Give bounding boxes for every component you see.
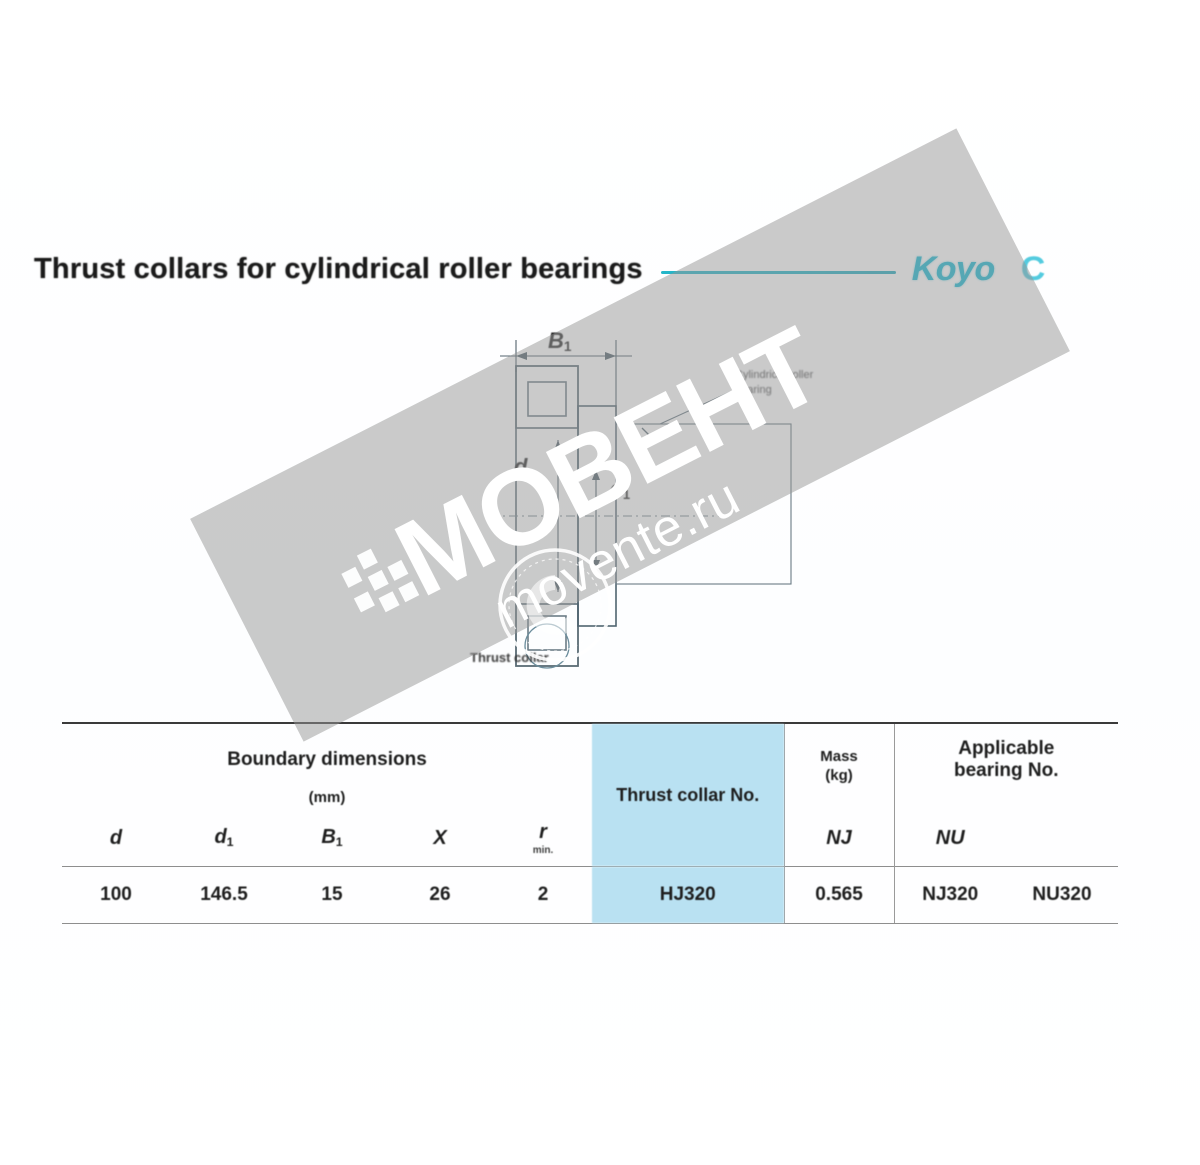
- cell-mass: 0.565: [784, 867, 894, 924]
- header-symbol-B1-subscript: 1: [336, 836, 343, 850]
- header-symbol-B1: B1: [278, 810, 386, 867]
- header-symbol-NJ: NJ: [784, 810, 894, 867]
- cell-bearing-nj: NJ320: [894, 867, 1006, 924]
- header-mass-line-2: (kg): [825, 767, 853, 784]
- table-group-header-row: Boundary dimensions Thrust collar No. Ma…: [62, 723, 1118, 784]
- header-rule-divider: [661, 271, 896, 274]
- header-symbol-d1: d1: [170, 810, 278, 867]
- catalog-page: Thrust collars for cylindrical roller be…: [0, 0, 1200, 1165]
- table-row[interactable]: 100 146.5 15 26 2 HJ320 0.565 NJ320 NU32…: [62, 867, 1118, 924]
- header-symbol-d: d: [62, 810, 170, 867]
- header-symbol-X: X: [386, 810, 494, 867]
- callout-line-2: bearing: [735, 383, 855, 398]
- cell-B1: 15: [278, 867, 386, 924]
- header-mass: Mass (kg): [784, 723, 894, 810]
- drawing-callout-bearing: Cylindrical roller bearing: [735, 368, 855, 398]
- header-boundary-dimensions: Boundary dimensions: [62, 723, 592, 784]
- header-symbol-r: r min.: [494, 810, 592, 867]
- cell-X: 26: [386, 867, 494, 924]
- header-symbol-r-min: min.: [494, 845, 592, 856]
- cell-d: 100: [62, 867, 170, 924]
- table-body: 100 146.5 15 26 2 HJ320 0.565 NJ320 NU32…: [62, 867, 1118, 924]
- technical-drawing: B1 d d1 Cylindrical roller bearing Thrus…: [430, 320, 900, 700]
- brand-edge-glyph: C: [1021, 250, 1046, 289]
- header-applicable-spacer: [894, 784, 1118, 810]
- table-symbol-row: d d1 B1 X r min. NJ NU: [62, 810, 1118, 867]
- page-header: Thrust collars for cylindrical roller be…: [34, 238, 1194, 300]
- page-title: Thrust collars for cylindrical roller be…: [34, 253, 643, 286]
- cell-thrust-collar-no[interactable]: HJ320: [592, 867, 784, 924]
- cell-bearing-nu: NU320: [1006, 867, 1118, 924]
- table-head: Boundary dimensions Thrust collar No. Ma…: [62, 723, 1118, 867]
- specification-table-container: Boundary dimensions Thrust collar No. Ma…: [62, 722, 1118, 924]
- drawing-caption: Thrust collar: [470, 650, 750, 665]
- header-thrust-collar-no: Thrust collar No.: [592, 723, 784, 867]
- header-symbol-NU: NU: [894, 810, 1006, 867]
- thrust-collar-spec-table: Boundary dimensions Thrust collar No. Ma…: [62, 722, 1118, 924]
- header-applicable-line-1: Applicable: [958, 738, 1054, 759]
- header-applicable-bearing-no: Applicable bearing No.: [894, 723, 1118, 784]
- header-mass-line-1: Mass: [820, 748, 858, 765]
- header-symbol-d1-subscript: 1: [227, 836, 234, 850]
- header-boundary-unit: (mm): [62, 784, 592, 810]
- table-unit-row: (mm): [62, 784, 1118, 810]
- dimension-label-d: d: [514, 454, 527, 480]
- dimension-label-B1-subscript: 1: [564, 339, 572, 354]
- koyo-brand-logo: Koyo: [912, 250, 995, 289]
- dimension-label-B1: B1: [548, 328, 571, 354]
- dimension-label-d1-subscript: 1: [623, 487, 630, 502]
- dimension-label-d1: d1: [610, 478, 630, 502]
- callout-line-1: Cylindrical roller: [735, 368, 855, 383]
- cell-r: 2: [494, 867, 592, 924]
- header-applicable-line-2: bearing No.: [954, 760, 1059, 781]
- cell-d1: 146.5: [170, 867, 278, 924]
